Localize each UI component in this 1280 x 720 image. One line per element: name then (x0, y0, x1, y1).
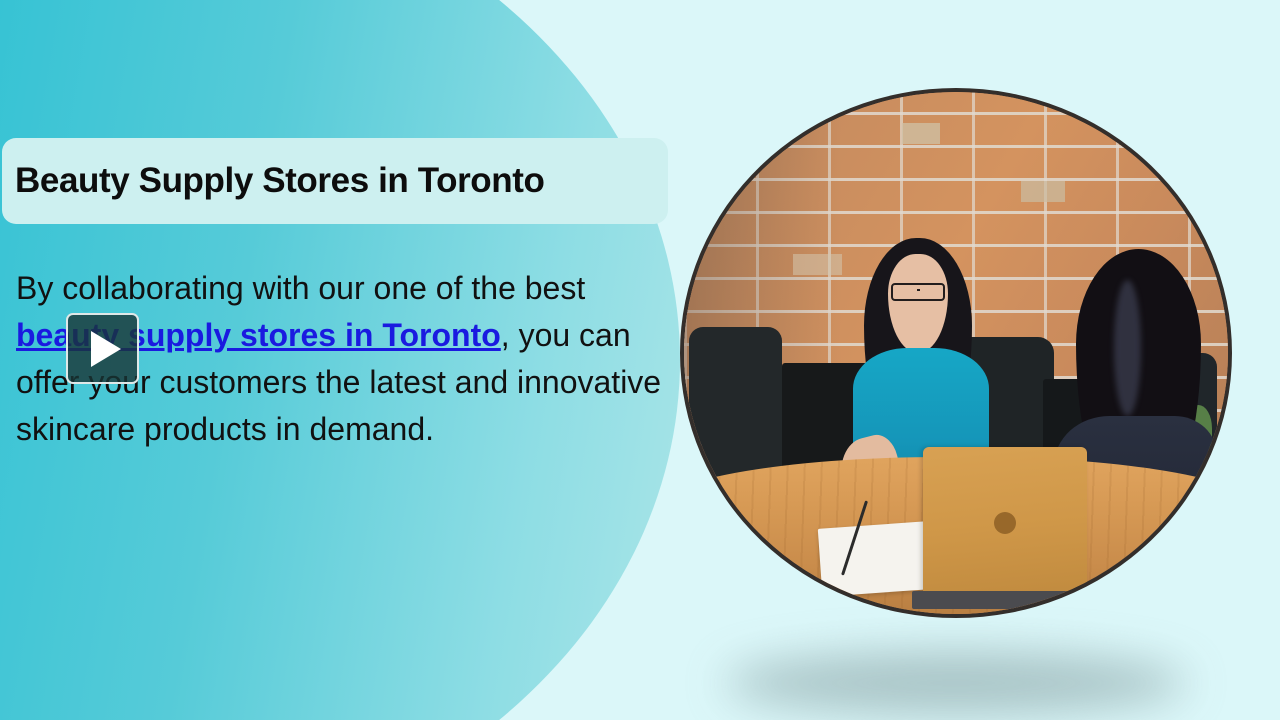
office-chair-left (689, 327, 781, 484)
notepad (818, 522, 931, 597)
photo-drop-shadow (725, 652, 1187, 714)
play-video-button[interactable] (66, 313, 139, 384)
person-right-hair-sheen (1114, 280, 1141, 416)
person-left-glasses (891, 283, 945, 302)
brick-patch (1021, 181, 1065, 202)
photo-inner (684, 92, 1228, 614)
laptop (923, 447, 1086, 593)
laptop-logo (994, 512, 1016, 534)
body-text-lead: By collaborating with our one of the bes… (16, 270, 585, 306)
laptop-base (912, 591, 1097, 609)
slide-canvas: Beauty Supply Stores in Toronto By colla… (0, 0, 1280, 720)
brick-patch (793, 254, 842, 275)
page-title: Beauty Supply Stores in Toronto (15, 161, 545, 201)
play-triangle-icon (91, 331, 121, 367)
circular-photo (680, 88, 1232, 618)
brick-patch (902, 123, 940, 144)
title-pill: Beauty Supply Stores in Toronto (2, 138, 668, 224)
